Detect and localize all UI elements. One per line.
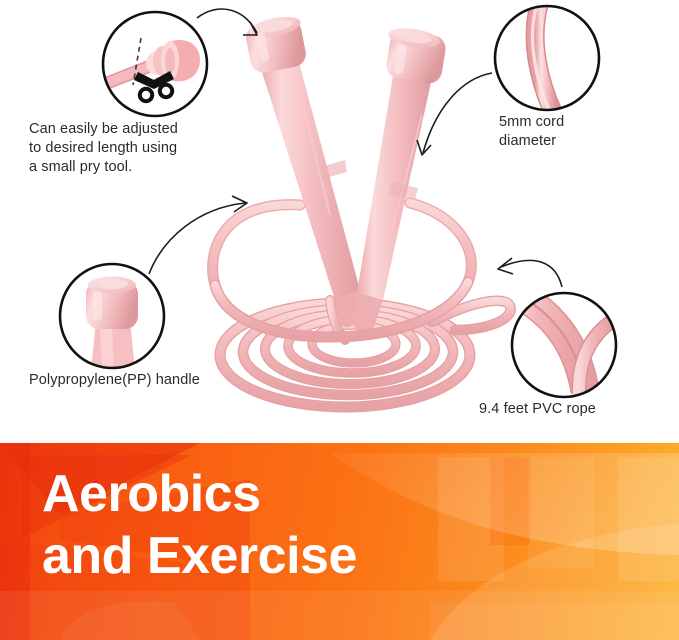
callout-label-rope: 9.4 feet PVC rope: [479, 400, 679, 419]
callout-circle-rope: [512, 288, 616, 397]
callout-circle-adjust: [95, 12, 207, 116]
callout-label-adjust: Can easily be adjusted to desired length…: [29, 120, 229, 177]
arrow-handle-to-product: [149, 196, 247, 274]
callout-circle-handle: [60, 264, 164, 380]
callout-circle-cord: [495, 2, 599, 118]
arrow-rope-to-product: [498, 258, 562, 287]
callout-label-handle: Polypropylene(PP) handle: [29, 371, 259, 390]
callout-label-cord: 5mm cord diameter: [499, 113, 639, 151]
jump-rope-handle-left: [244, 13, 360, 327]
product-photo-area: Can easily be adjusted to desired length…: [0, 0, 679, 443]
product-infographic: Can easily be adjusted to desired length…: [0, 0, 679, 640]
banner-title: Aerobics and Exercise: [42, 463, 602, 587]
jump-rope-handle-right: [354, 25, 447, 336]
arrow-adjust-to-handle: [197, 9, 257, 35]
promo-banner: Aerobics and Exercise: [0, 443, 679, 640]
